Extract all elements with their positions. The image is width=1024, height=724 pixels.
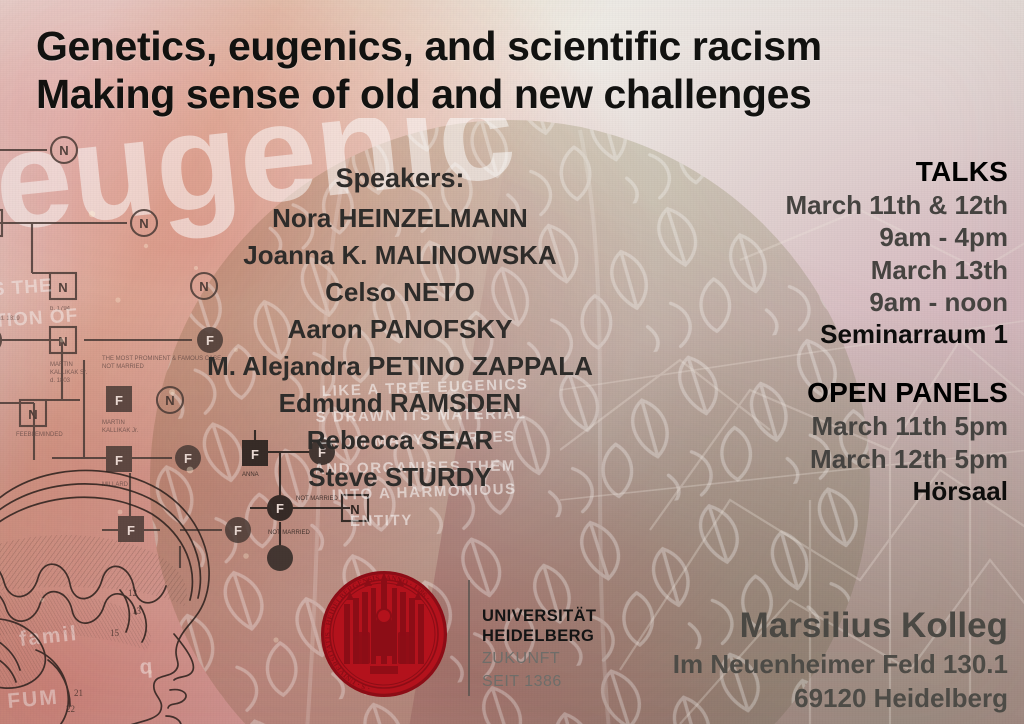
svg-text:N: N bbox=[58, 334, 67, 349]
schedule-column: TALKS March 11th & 12th 9am - 4pm March … bbox=[588, 155, 1008, 507]
svg-text:b. 1794: b. 1794 bbox=[50, 306, 71, 312]
logo-line-4: SEIT 1386 bbox=[482, 672, 596, 692]
svg-text:q: q bbox=[139, 655, 155, 679]
panels-room: Hörsaal bbox=[588, 475, 1008, 507]
svg-text:famil: famil bbox=[18, 622, 79, 651]
svg-text:d. 1812 d. 1819: d. 1812 d. 1819 bbox=[0, 316, 20, 322]
svg-text:MILLARD: MILLARD bbox=[102, 482, 129, 488]
talks-room: Seminarraum 1 bbox=[588, 318, 1008, 350]
title-line-2: Making sense of old and new challenges bbox=[36, 70, 976, 118]
speaker-name: Rebecca SEAR bbox=[150, 422, 650, 459]
panels-heading: OPEN PANELS bbox=[588, 376, 1008, 410]
svg-text:KALLIKAK Sr.: KALLIKAK Sr. bbox=[50, 370, 88, 376]
svg-text:NOT MARRIED: NOT MARRIED bbox=[102, 364, 145, 370]
svg-text:N: N bbox=[139, 216, 148, 231]
svg-text:d. 1803: d. 1803 bbox=[50, 378, 71, 384]
schedule-spacer bbox=[588, 350, 1008, 376]
svg-text:N: N bbox=[59, 143, 68, 158]
heidelberg-seal-icon: · S · UNIVERSITATIS · HEIDELBERGENSIS · … bbox=[320, 570, 448, 698]
poster-title: Genetics, eugenics, and scientific racis… bbox=[36, 22, 976, 119]
svg-text:FUM: FUM bbox=[6, 686, 59, 713]
svg-text:F: F bbox=[115, 453, 123, 468]
speakers-heading: Speakers: bbox=[150, 160, 650, 196]
svg-text:F: F bbox=[115, 393, 123, 408]
logo-line-1: UNIVERSITÄT bbox=[482, 606, 596, 626]
speaker-name: M. Alejandra PETINO ZAPPALA bbox=[150, 348, 650, 385]
logo-divider bbox=[468, 580, 470, 696]
svg-text:12: 12 bbox=[128, 588, 137, 598]
logo-line-3: ZUKUNFT bbox=[482, 649, 596, 669]
conference-poster: eugenic N N N N N F N bbox=[0, 0, 1024, 724]
svg-text:CTION OF: CTION OF bbox=[0, 305, 79, 333]
speakers-section: Speakers: Nora HEINZELMANN Joanna K. MAL… bbox=[150, 160, 650, 495]
svg-text:N: N bbox=[58, 280, 67, 295]
talks-block: TALKS March 11th & 12th 9am - 4pm March … bbox=[588, 155, 1008, 350]
svg-text:F: F bbox=[127, 523, 135, 538]
logo-line-2: HEIDELBERG bbox=[482, 626, 596, 646]
svg-text:22: 22 bbox=[66, 704, 75, 714]
panels-date-2: March 12th 5pm bbox=[588, 443, 1008, 475]
panels-date-1: March 11th 5pm bbox=[588, 410, 1008, 442]
svg-text:N: N bbox=[28, 407, 37, 422]
talks-time-1: 9am - 4pm bbox=[588, 221, 1008, 253]
svg-text:FEEBLEMINDED: FEEBLEMINDED bbox=[16, 432, 63, 438]
talks-dates-1: March 11th & 12th bbox=[588, 189, 1008, 221]
logo-wordmark: UNIVERSITÄT HEIDELBERG ZUKUNFT SEIT 1386 bbox=[482, 606, 596, 691]
speaker-name: Joanna K. MALINOWSKA bbox=[150, 237, 650, 274]
speaker-name: Celso NETO bbox=[150, 274, 650, 311]
svg-text:13: 13 bbox=[132, 606, 142, 616]
svg-text:MARTIN: MARTIN bbox=[50, 362, 73, 368]
talks-time-2: 9am - noon bbox=[588, 286, 1008, 318]
speaker-name: Steve STURDY bbox=[150, 459, 650, 496]
university-logo: · S · UNIVERSITATIS · HEIDELBERGENSIS · … bbox=[320, 566, 580, 718]
svg-text:MARTIN: MARTIN bbox=[102, 420, 125, 426]
svg-text:KALLIKAK Jr.: KALLIKAK Jr. bbox=[102, 428, 139, 434]
speaker-name: Nora HEINZELMANN bbox=[150, 200, 650, 237]
speaker-name: Aaron PANOFSKY bbox=[150, 311, 650, 348]
panels-block: OPEN PANELS March 11th 5pm March 12th 5p… bbox=[588, 376, 1008, 507]
svg-text:21: 21 bbox=[74, 688, 83, 698]
talks-dates-2: March 13th bbox=[588, 254, 1008, 286]
title-line-1: Genetics, eugenics, and scientific racis… bbox=[36, 22, 976, 70]
svg-text:IS THE: IS THE bbox=[0, 275, 53, 301]
svg-text:15: 15 bbox=[110, 628, 120, 638]
talks-heading: TALKS bbox=[588, 155, 1008, 189]
speaker-name: Edmund RAMSDEN bbox=[150, 385, 650, 422]
